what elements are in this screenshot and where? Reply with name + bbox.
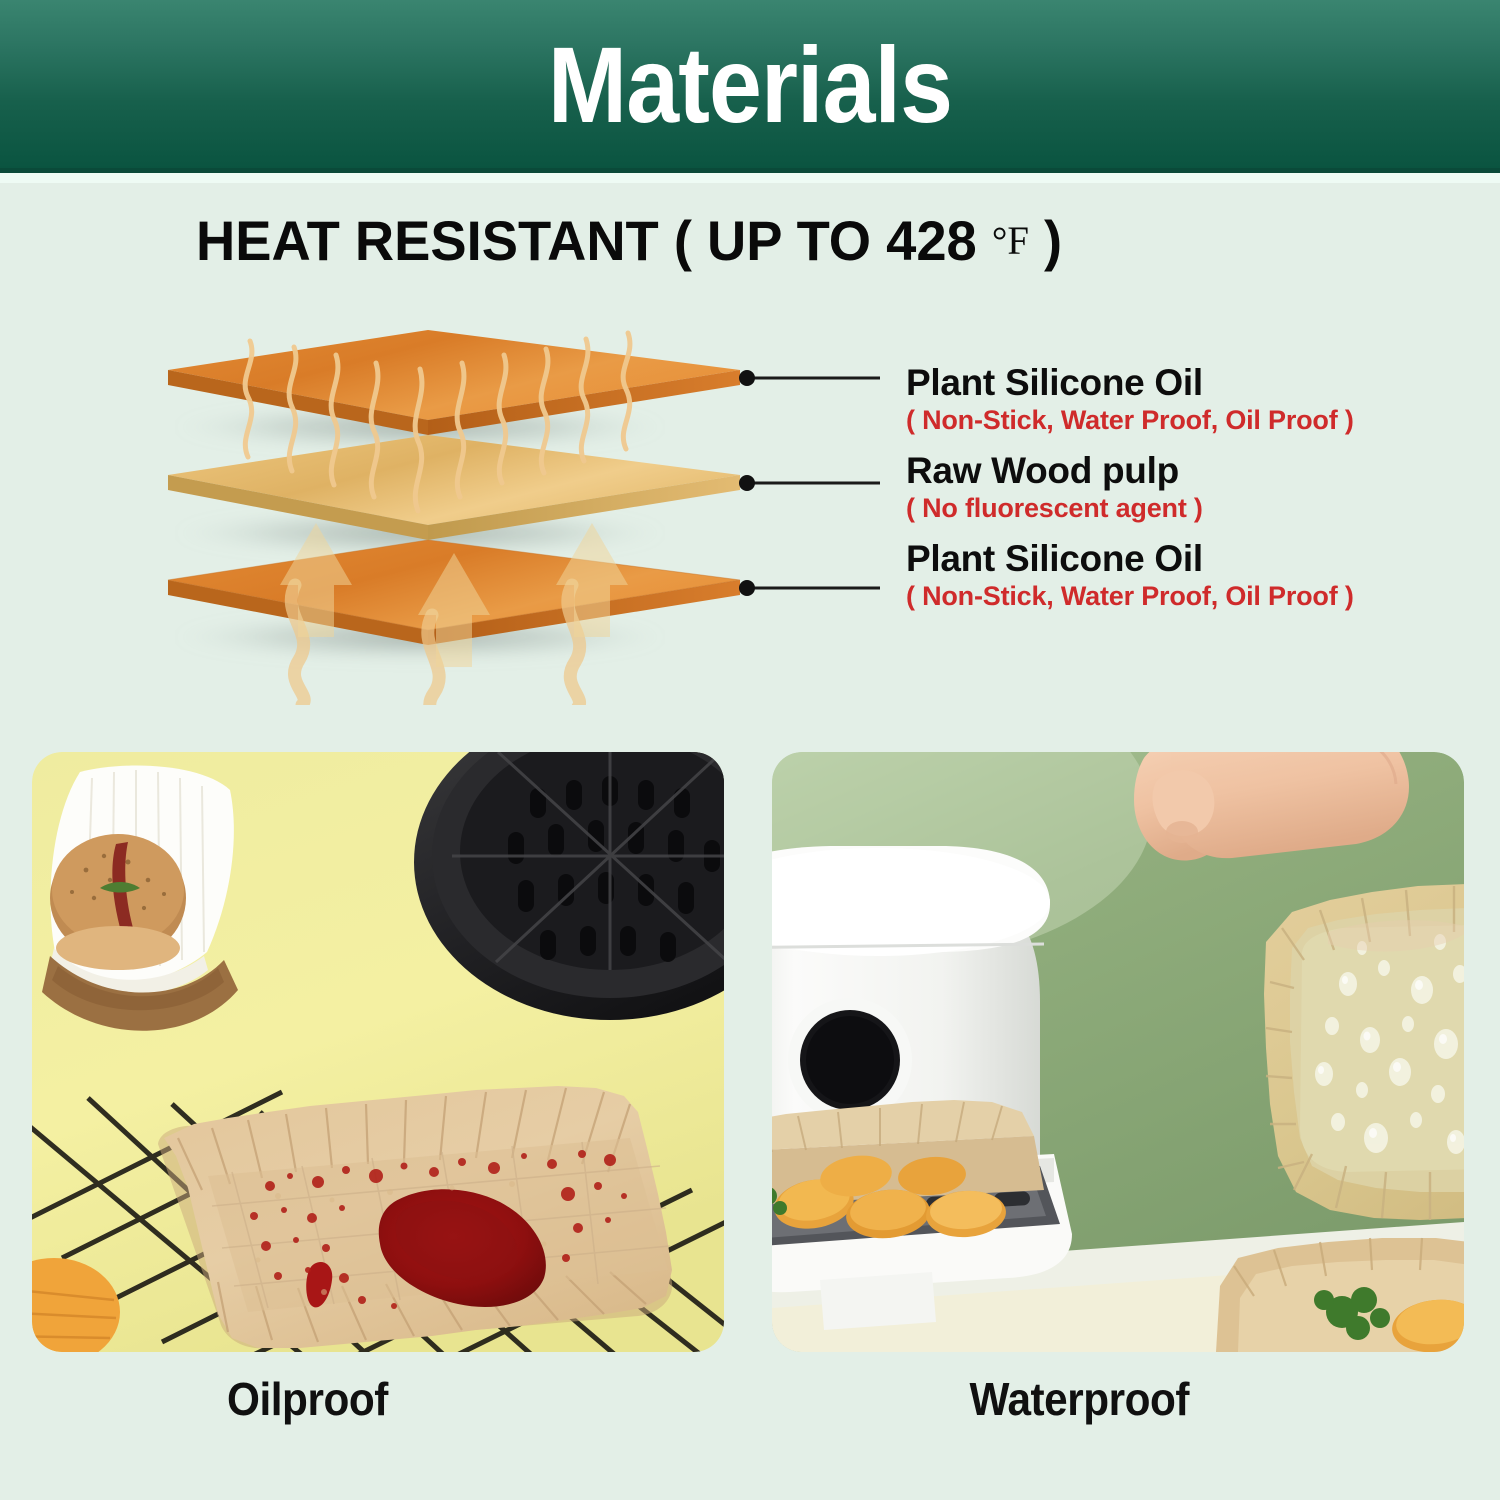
layer-label-middle: Raw Wood pulp ( No fluorescent agent ) xyxy=(906,450,1203,524)
layer-label-sub: ( Non-Stick, Water Proof, Oil Proof ) xyxy=(906,580,1354,612)
paper-liner-waterproof xyxy=(1264,884,1464,1220)
air-fryer xyxy=(772,846,1072,1330)
liner-with-food xyxy=(1216,1238,1464,1352)
caption-oilproof: Oilproof xyxy=(227,1372,388,1426)
layer-label-title: Plant Silicone Oil xyxy=(906,362,1354,404)
layer-label-sub: ( Non-Stick, Water Proof, Oil Proof ) xyxy=(906,404,1354,436)
layer-label-title: Raw Wood pulp xyxy=(906,450,1203,492)
caption-waterproof: Waterproof xyxy=(970,1372,1190,1426)
layer-label-title: Plant Silicone Oil xyxy=(906,538,1354,580)
burger xyxy=(50,834,186,970)
photo-card-waterproof xyxy=(772,752,1464,1352)
paper-liner-oilproof xyxy=(158,1086,672,1348)
photo-card-oilproof xyxy=(32,752,724,1352)
layer-label-top: Plant Silicone Oil ( Non-Stick, Water Pr… xyxy=(906,362,1354,436)
layer-label-sub: ( No fluorescent agent ) xyxy=(906,492,1203,524)
layer-label-bottom: Plant Silicone Oil ( Non-Stick, Water Pr… xyxy=(906,538,1354,612)
